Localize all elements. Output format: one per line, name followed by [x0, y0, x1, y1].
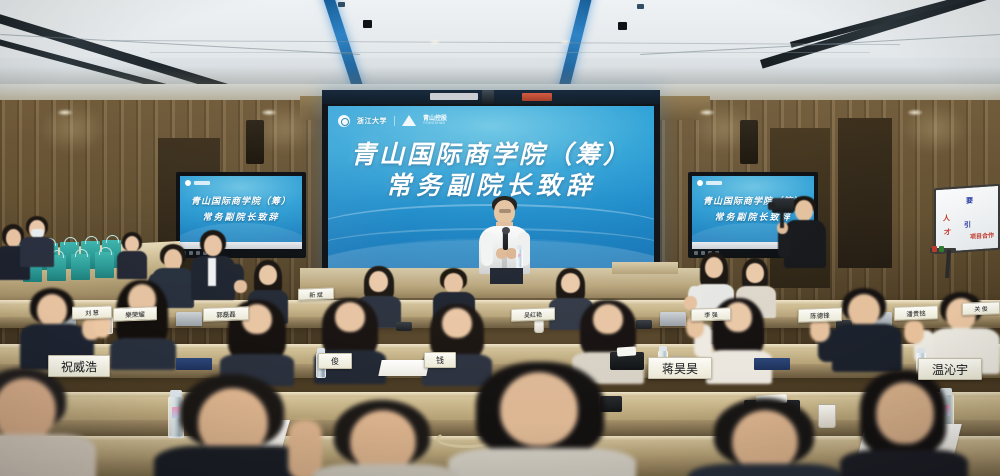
partner-logo-en: TSINGSHAN [423, 122, 447, 125]
name-placard: 吴红艳 [511, 307, 555, 322]
stage-water-bottle [516, 248, 523, 268]
screen-logo-row: 浙江大学 青山控股 TSINGSHAN [338, 114, 447, 127]
name-placard: 俊 [318, 353, 352, 369]
name-placard: 潘贵铭 [894, 305, 938, 321]
whiteboard-mark-0: 要 [966, 196, 973, 206]
marker-green [939, 246, 944, 252]
video-camera-icon [772, 198, 794, 213]
whiteboard-mark-1: 人 [943, 213, 950, 223]
name-placard: 陈德锋 [798, 307, 842, 323]
marker-red [932, 246, 937, 252]
side-screen-left[interactable]: 青山国际商学院（筹） 常务副院长致辞 [176, 172, 306, 258]
name-placard: 祝威浩 [48, 355, 110, 377]
screen-title-line1: 青山国际商学院（筹） [328, 140, 654, 171]
wall-speaker-left [246, 120, 264, 164]
whiteboard: 要 人 才 引 项目合作 [934, 184, 1000, 255]
screen-title: 青山国际商学院（筹） 常务副院长致辞 [328, 140, 654, 204]
tissue-box-middle [610, 352, 644, 370]
whiteboard-mark-4: 项目合作 [970, 230, 994, 241]
name-placard: 李 强 [691, 307, 731, 321]
whiteboard-mark-2: 才 [944, 227, 951, 237]
wall-speaker-right [740, 120, 758, 164]
status-indicator [522, 93, 552, 101]
name-placard: 樂荣耀 [113, 306, 157, 322]
partner-mountain-icon [402, 115, 416, 126]
screen-camera-bar [322, 90, 660, 104]
wall-niche-right [838, 118, 892, 268]
name-placard: 钱 [424, 352, 456, 368]
paper-cup-foreground [818, 404, 836, 428]
name-placard: 温沁宇 [918, 358, 982, 380]
university-logo-label: 浙江大学 [357, 116, 387, 126]
name-placard: 郭磊磊 [203, 306, 249, 322]
whiteboard-mark-3: 引 [964, 220, 971, 230]
screen-title-line2: 常务副院长致辞 [328, 171, 654, 204]
side-left-title1: 青山国际商学院（筹） [180, 194, 302, 207]
ceiling [0, 0, 1000, 92]
name-placard: 蒋昊昊 [648, 357, 712, 379]
side-left-taskbar [180, 242, 302, 249]
conference-hall-photo: 浙江大学 青山控股 TSINGSHAN 青山国际商学院（筹） 常务副院长致辞 青… [0, 0, 1000, 476]
camera-icon [482, 90, 494, 104]
name-placard: 关 俊 [962, 301, 1000, 315]
partner-logo-label: 青山控股 [423, 116, 447, 122]
side-left-title2: 常务副院长致辞 [180, 210, 302, 223]
stage-side-table [612, 262, 678, 274]
name-placard: 刘 慧 [72, 305, 112, 319]
name-placard: 新 斌 [298, 287, 334, 300]
university-emblem-icon [338, 115, 350, 127]
side-screen-left-surface: 青山国际商学院（筹） 常务副院长致辞 [180, 176, 302, 249]
